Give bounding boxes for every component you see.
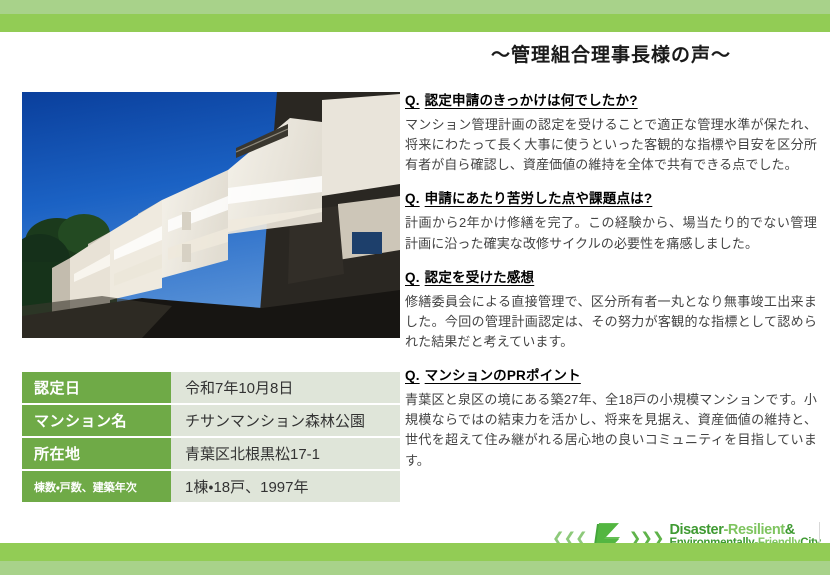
answer-text-4: 青葉区と泉区の境にある築27年、全18戸の小規模マンションです。小規模ならではの… xyxy=(405,390,817,471)
bottom-bar-light-band xyxy=(0,561,830,575)
table-row-label: 棟数・戸数、建築年次 xyxy=(22,471,171,502)
question-text: 申請にあたり苦労した点や課題点は? xyxy=(425,191,653,206)
table-row-label: 認定日 xyxy=(22,372,171,403)
building-photo-graphic xyxy=(22,92,400,338)
table-row: 所在地 青葉区北根黒松17-1 xyxy=(22,438,400,469)
question-text: マンションのPRポイント xyxy=(425,368,581,383)
qa-block-1: Q.認定申請のきっかけは何でしたか? マンション管理計画の認定を受けることで適正… xyxy=(405,89,817,175)
table-row: 認定日 令和7年10月8日 xyxy=(22,372,400,403)
qa-block-4: Q.マンションのPRポイント 青葉区と泉区の境にある築27年、全18戸の小規模マ… xyxy=(405,364,817,471)
answer-text-3: 修繕委員会による直接管理で、区分所有者一丸となり無事竣工出来ました。今回の管理計… xyxy=(405,292,817,352)
left-column xyxy=(22,92,400,338)
tagline-word-disaster: Disaster xyxy=(669,522,723,538)
question-marker: Q. xyxy=(405,191,420,206)
building-photo xyxy=(22,92,400,338)
top-decorative-bar xyxy=(0,0,830,32)
page-title: 〜管理組合理事長様の声〜 xyxy=(405,40,817,67)
question-text: 認定申請のきっかけは何でしたか? xyxy=(425,93,638,108)
table-row-label: 所在地 xyxy=(22,438,171,469)
right-column: 〜管理組合理事長様の声〜 Q.認定申請のきっかけは何でしたか? マンション管理計… xyxy=(405,40,817,483)
table-row: 棟数・戸数、建築年次 1棟・18戸、1997年 xyxy=(22,471,400,502)
bottom-decorative-bar xyxy=(0,543,830,575)
top-bar-dark-band xyxy=(0,14,830,32)
answer-text-1: マンション管理計画の認定を受けることで適正な管理水準が保たれ、将来にわたって長く… xyxy=(405,115,817,175)
tagline-line-1: Disaster-Resilient& xyxy=(669,523,820,538)
table-row-value: 1棟・18戸、1997年 xyxy=(171,471,400,502)
table-row-value: チサンマンション森林公園 xyxy=(171,405,400,436)
question-heading-4: Q.マンションのPRポイント xyxy=(405,364,581,384)
table-row-label: マンション名 xyxy=(22,405,171,436)
top-bar-light-band xyxy=(0,0,830,14)
question-heading-2: Q.申請にあたり苦労した点や課題点は? xyxy=(405,187,652,207)
property-info-table: 認定日 令和7年10月8日 マンション名 チサンマンション森林公園 所在地 青葉… xyxy=(22,370,400,504)
qa-block-2: Q.申請にあたり苦労した点や課題点は? 計画から2年かけ修繕を完了。この経験から… xyxy=(405,187,817,253)
table-row-value: 令和7年10月8日 xyxy=(171,372,400,403)
table-row: マンション名 チサンマンション森林公園 xyxy=(22,405,400,436)
qa-block-3: Q.認定を受けた感想 修繕委員会による直接管理で、区分所有者一丸となり無事竣工出… xyxy=(405,266,817,352)
slide-root: 認定日 令和7年10月8日 マンション名 チサンマンション森林公園 所在地 青葉… xyxy=(0,0,830,575)
bottom-bar-dark-band xyxy=(0,543,830,561)
property-info-body: 認定日 令和7年10月8日 マンション名 チサンマンション森林公園 所在地 青葉… xyxy=(22,372,400,502)
question-heading-1: Q.認定申請のきっかけは何でしたか? xyxy=(405,89,638,109)
tagline-ampersand: & xyxy=(785,522,795,538)
tagline-word-resilient: -Resilient xyxy=(723,522,784,538)
question-marker: Q. xyxy=(405,93,420,108)
question-text: 認定を受けた感想 xyxy=(425,270,535,285)
question-marker: Q. xyxy=(405,270,420,285)
question-marker: Q. xyxy=(405,368,420,383)
question-heading-3: Q.認定を受けた感想 xyxy=(405,266,534,286)
table-row-value: 青葉区北根黒松17-1 xyxy=(171,438,400,469)
answer-text-2: 計画から2年かけ修繕を完了。この経験から、場当たり的でない管理計画に沿った確実な… xyxy=(405,213,817,253)
